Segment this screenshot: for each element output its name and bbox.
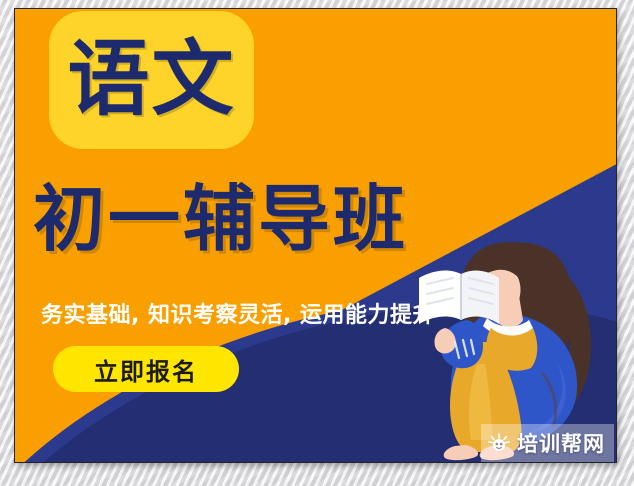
enroll-now-label: 立即报名	[94, 352, 198, 387]
subject-badge-label: 语文	[67, 39, 235, 121]
course-promo-banner: 语文 初一辅导班 务实基础, 知识考察灵活, 运用能力提升 立即报名	[14, 8, 617, 463]
page-title: 初一辅导班	[33, 183, 408, 255]
site-watermark: 培训帮网	[481, 424, 614, 462]
subtitle-text: 务实基础, 知识考察灵活, 运用能力提升	[41, 297, 435, 329]
subject-badge: 语文	[49, 11, 254, 149]
watermark-label: 培训帮网	[517, 428, 605, 458]
enroll-now-button[interactable]: 立即报名	[53, 346, 239, 392]
sun-face-icon	[488, 433, 510, 453]
